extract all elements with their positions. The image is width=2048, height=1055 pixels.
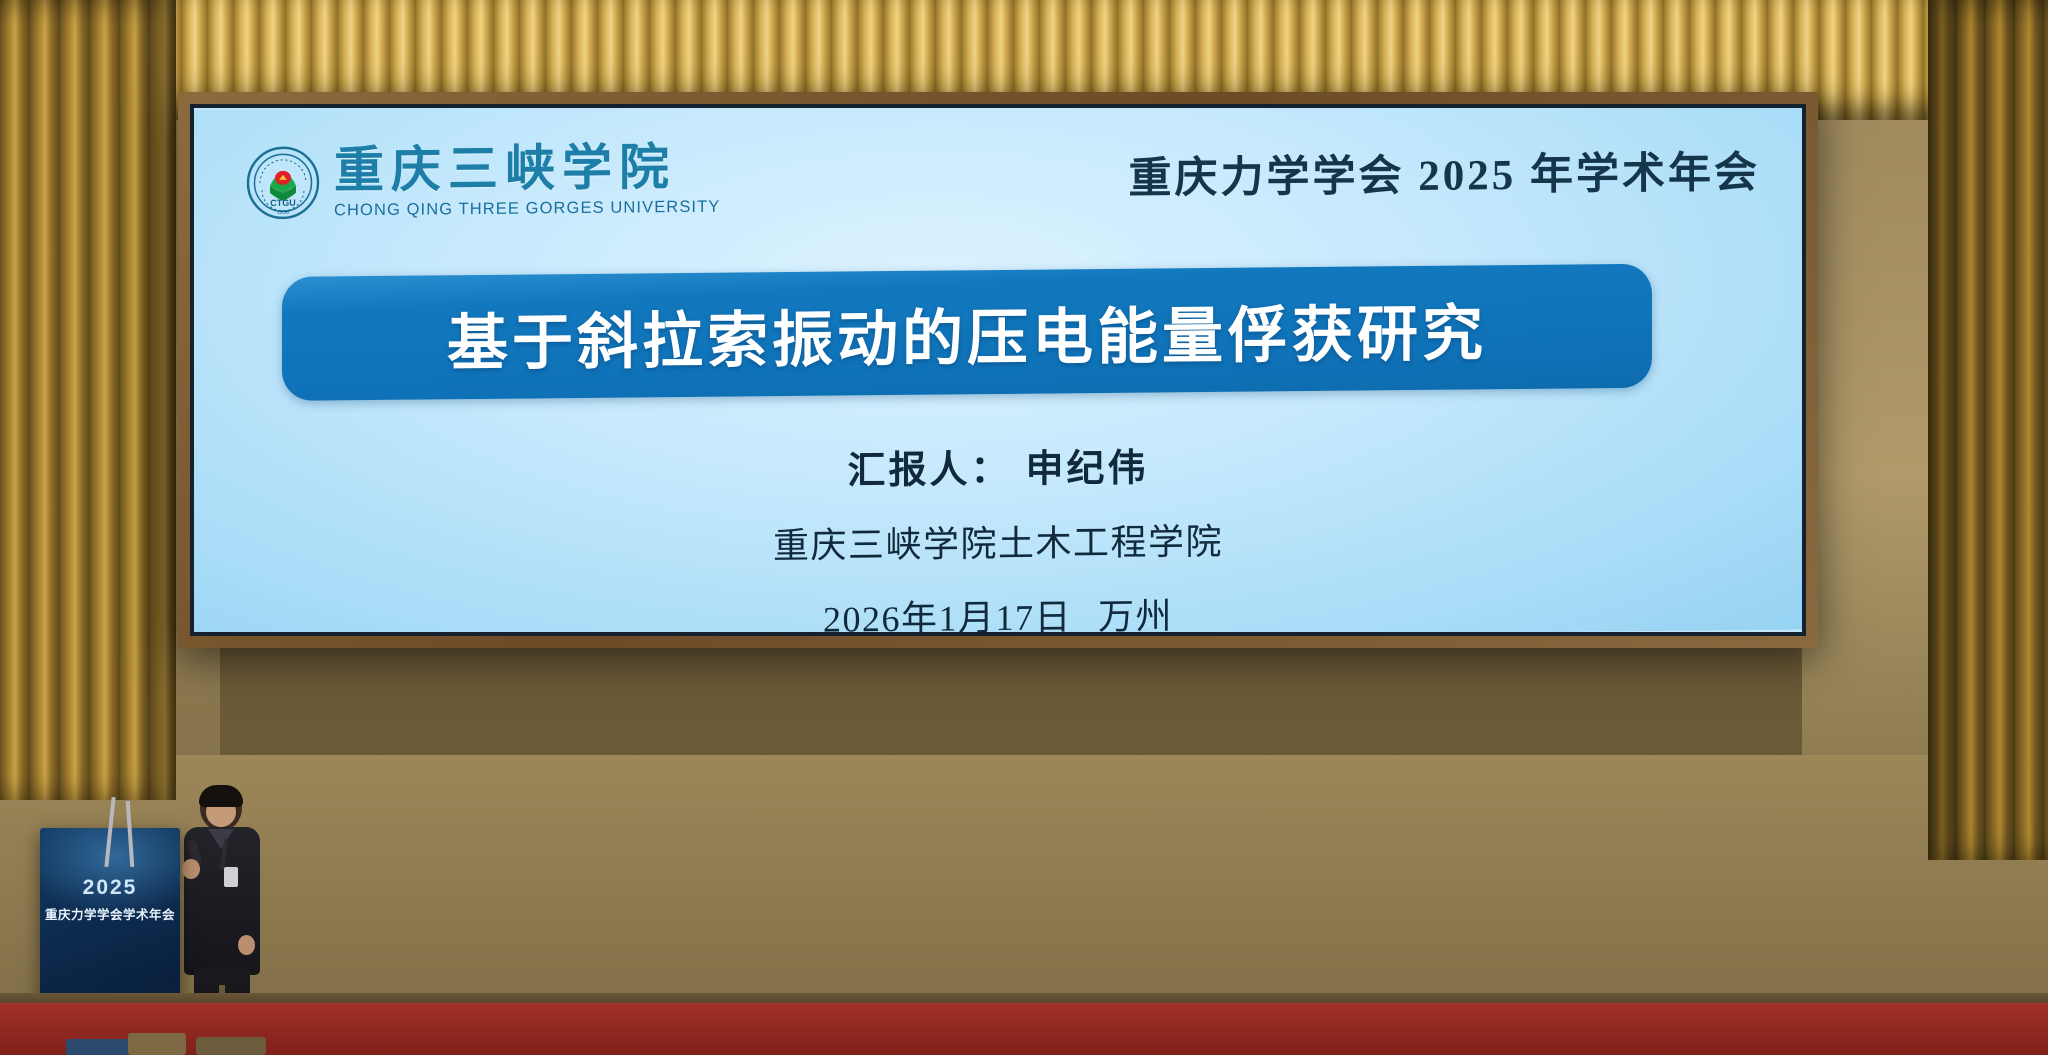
presenter-name: 申纪伟 — [1026, 448, 1149, 491]
svg-text:CTGU: CTGU — [270, 198, 295, 208]
auditorium-scene: CTGU 1956 重庆三峡学院 CHONG QING THREE GORGES… — [0, 0, 2048, 1055]
university-logo-lockup: CTGU 1956 重庆三峡学院 CHONG QING THREE GORGES… — [246, 142, 720, 221]
curtain-left — [0, 0, 176, 800]
projection-screen: CTGU 1956 重庆三峡学院 CHONG QING THREE GORGES… — [190, 104, 1806, 636]
presentation-date: 2026年1月17日 — [823, 597, 1072, 636]
speaker-hand-left — [182, 859, 200, 879]
presenter-line: 汇报人：申纪伟 — [194, 430, 1802, 500]
foreground-object-right — [196, 1037, 266, 1055]
stage-carpet — [0, 1003, 2048, 1055]
university-name-en: CHONG QING THREE GORGES UNIVERSITY — [334, 199, 720, 219]
curtain-right — [1928, 0, 2048, 860]
presentation-place: 万州 — [1098, 596, 1173, 636]
speaker-hand-right — [238, 935, 255, 955]
presenter-block: 汇报人：申纪伟 重庆三峡学院土木工程学院 2026年1月17日万州 — [194, 430, 1802, 636]
lectern-year: 2025 — [40, 876, 180, 900]
lectern-event-name: 重庆力学学会学术年会 — [40, 904, 180, 923]
slide-header: CTGU 1956 重庆三峡学院 CHONG QING THREE GORGES… — [246, 123, 1766, 230]
slide-content: CTGU 1956 重庆三峡学院 CHONG QING THREE GORGES… — [194, 104, 1802, 636]
presenter-role-label: 汇报人： — [847, 449, 1011, 493]
ctgu-seal-icon: CTGU 1956 — [246, 146, 320, 221]
slide-title: 基于斜拉索振动的压电能量俘获研究 — [447, 283, 1487, 382]
svg-text:1956: 1956 — [277, 210, 289, 216]
university-name-block: 重庆三峡学院 CHONG QING THREE GORGES UNIVERSIT… — [334, 142, 720, 219]
university-name-cn: 重庆三峡学院 — [334, 142, 720, 196]
foreground-object-center — [128, 1033, 186, 1055]
presenter-affiliation: 重庆三峡学院土木工程学院 — [194, 507, 1802, 574]
speaker-hair — [199, 785, 243, 807]
conference-title: 重庆力学学会 2025 年学术年会 — [1129, 138, 1767, 206]
projection-screen-frame: CTGU 1956 重庆三峡学院 CHONG QING THREE GORGES… — [178, 92, 1818, 648]
speaker-badge — [224, 867, 238, 887]
foreground-object-left — [66, 1039, 128, 1055]
slide-title-banner: 基于斜拉索振动的压电能量俘获研究 — [282, 264, 1652, 401]
presenter-date-place: 2026年1月17日万州 — [194, 581, 1802, 636]
